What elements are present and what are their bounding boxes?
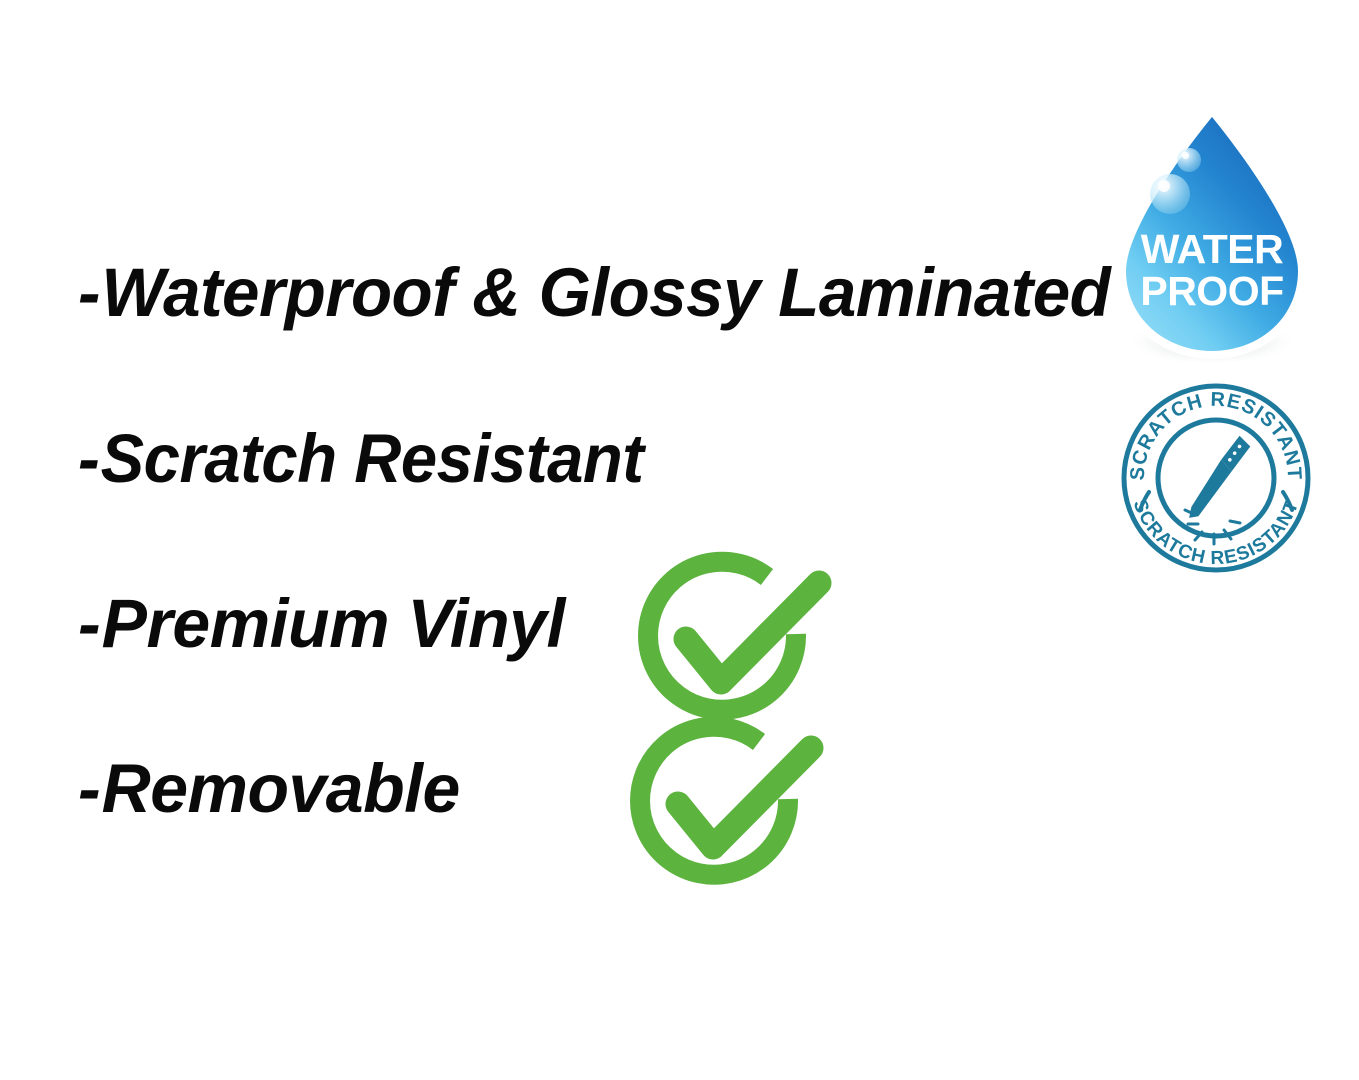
waterproof-text-line2: PROOF [1140,268,1283,314]
waterproof-text-line1: WATER [1141,226,1284,272]
stamp-text-top: SCRATCH RESISTANT [1127,389,1306,481]
feature-dash: - [78,420,101,497]
feature-line-scratch-resistant: -Scratch Resistant [78,424,643,493]
green-check-premium-vinyl [641,551,827,737]
feature-dash: - [78,254,101,331]
feature-label: Waterproof & Glossy Laminated [101,254,1110,331]
green-check-removable [633,716,819,902]
stamp-text-bottom: SCRATCH RESISTANT [1129,497,1304,569]
feature-line-removable: -Removable [78,754,460,823]
water-bubble-small [1177,148,1201,172]
water-bubble-small-highlight [1182,152,1189,159]
water-bubble-large [1150,174,1190,214]
scratch-spark-marks [1185,510,1240,544]
feature-line-waterproof: -Waterproof & Glossy Laminated [78,258,1110,327]
infographic-canvas: -Waterproof & Glossy Laminated -Scratch … [0,0,1359,1080]
feature-dash: - [78,750,102,827]
feature-line-premium-vinyl: -Premium Vinyl [78,589,565,658]
waterproof-droplet-badge: WATER PROOF [1100,100,1324,368]
water-bubble-large-highlight [1158,180,1170,192]
feature-dash: - [78,585,102,662]
feature-label: Premium Vinyl [102,585,565,662]
feature-label: Scratch Resistant [101,420,644,497]
scratch-resistant-stamp-badge: SCRATCH RESISTANT SCRATCH RESISTANT [1118,382,1314,574]
feature-label: Removable [102,750,460,827]
